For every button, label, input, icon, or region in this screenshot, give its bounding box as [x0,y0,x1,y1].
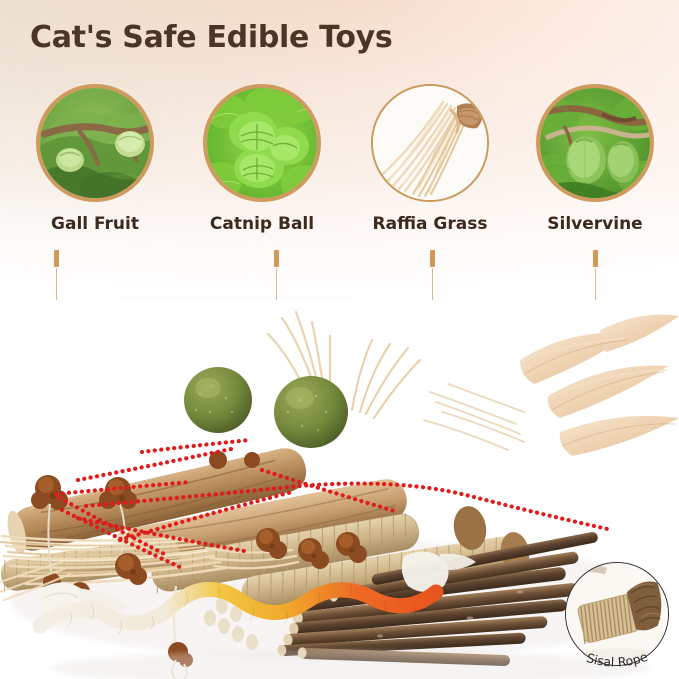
connector-tick-icon [274,250,279,267]
connector-tick-icon [54,250,59,267]
ingredient-labels: Gall Fruit Catnip Ball Raffia Grass Silv… [0,214,679,242]
label-raffia-grass: Raffia Grass [373,214,488,234]
catnip-ball-ring [203,84,321,202]
ingredient-circles [0,84,679,214]
ingredient-circle-catnip-ball[interactable] [203,84,321,202]
sisal-rope-closeup [566,563,669,666]
gall-fruit-ring [36,84,154,202]
sisal-rope-inset[interactable]: Sisal Rope [565,562,669,666]
raffia-grass-photo [373,86,489,202]
infographic-root: Cat's Safe Edible Toys [0,0,679,679]
ingredient-circle-gall-fruit[interactable] [36,84,154,202]
gall-fruit-photo [40,88,154,202]
page-title: Cat's Safe Edible Toys [30,20,392,55]
silvervine-photo [540,88,654,202]
ingredient-circle-raffia-grass[interactable] [371,84,489,202]
connector-tick-icon [593,250,598,267]
catnip-photo [207,88,321,202]
label-gall-fruit: Gall Fruit [51,214,139,234]
label-catnip-ball: Catnip Ball [210,214,314,234]
raffia-grass-ring [371,84,489,202]
connector-tick-icon [430,250,435,267]
silvervine-ring [536,84,654,202]
ingredient-circle-silvervine[interactable] [536,84,654,202]
label-silvervine: Silvervine [547,214,642,234]
sisal-rope-inset-ring [565,562,669,666]
